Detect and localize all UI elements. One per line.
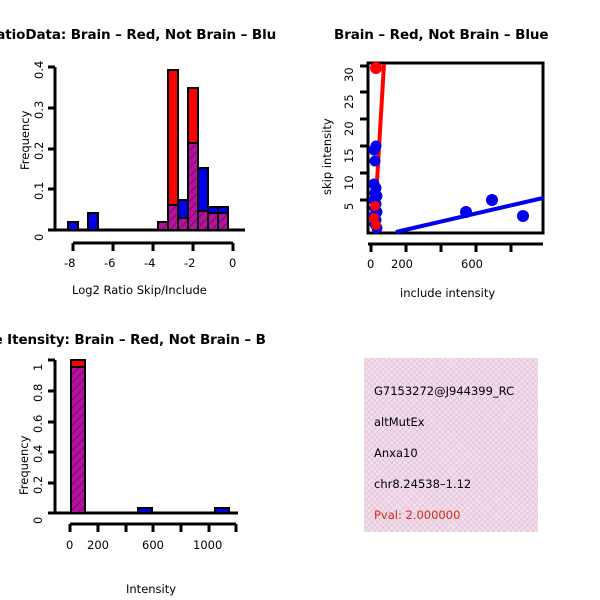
info-gene-name: Anxa10 [374,446,538,460]
ytick-int-2: 0.4 [31,445,45,463]
info-probe-id: G7153272@J944399_RC [374,384,538,398]
intensity-plot-area [0,310,330,600]
ytick-int-3: 0.6 [31,415,45,433]
xtick-log2-4: 0 [229,256,236,270]
ytick-int-1: 0.2 [31,476,45,494]
info-locus: chr8.24538–1.12 [374,477,538,491]
ytick-scatter-15: 15 [342,148,356,163]
ytick-scatter-30: 30 [342,67,356,82]
info-event-type: altMutEx [374,415,538,429]
ytick-log2-3: 0.3 [32,101,46,119]
ytick-int-0: 0 [31,517,45,524]
panel-intensity-scatter: Brain – Red, Not Brain – Blue skip inten… [300,0,600,310]
ytick-log2-2: 0.2 [32,142,46,160]
ytick-int-5: 1 [31,364,45,371]
ytick-scatter-5: 5 [342,203,356,210]
panel-intensity-histogram: ne Itensity: Brain – Red, Not Brain – B … [0,310,330,600]
bar-intensity-550 [138,508,152,513]
ytick-log2-1: 0.1 [32,182,46,200]
x-axis-log2 [73,243,233,251]
ytick-log2-4: 0.4 [32,61,46,79]
bar-intensity-main-overlap [71,367,85,513]
event-info-box: G7153272@J944399_RC altMutEx Anxa10 chr8… [364,358,538,532]
xtick-int-0: 0 [66,538,73,552]
xtick-log2-3: -2 [184,256,195,270]
ytick-scatter-25: 25 [342,94,356,109]
xtick-log2-0: -8 [64,256,75,270]
x-axis-intensity [70,524,236,532]
ytick-scatter-20: 20 [342,121,356,136]
ytick-int-4: 0.8 [31,384,45,402]
ytick-scatter-10: 10 [342,175,356,190]
xtick-log2-2: -4 [144,256,155,270]
bar-intensity-1100 [215,508,229,513]
bars-not-brain-right [218,207,228,230]
x-axis-scatter [368,244,543,252]
info-pval: Pval: 2.000000 [374,508,538,522]
ytick-log2-0: 0 [32,234,46,241]
y-axis-log2 [48,67,55,230]
xtick-int-1000: 1000 [193,538,222,552]
xtick-scatter-600: 600 [461,257,483,271]
panel-log2-ratio-histogram: RatioData: Brain – Red, Not Brain – Blu … [0,0,300,310]
xtick-int-600: 600 [142,538,164,552]
xtick-log2-1: -6 [104,256,115,270]
xtick-int-200: 200 [87,538,109,552]
y-axis-intensity [48,360,55,513]
xtick-scatter-0: 0 [367,257,374,271]
xtick-scatter-200: 200 [391,257,413,271]
